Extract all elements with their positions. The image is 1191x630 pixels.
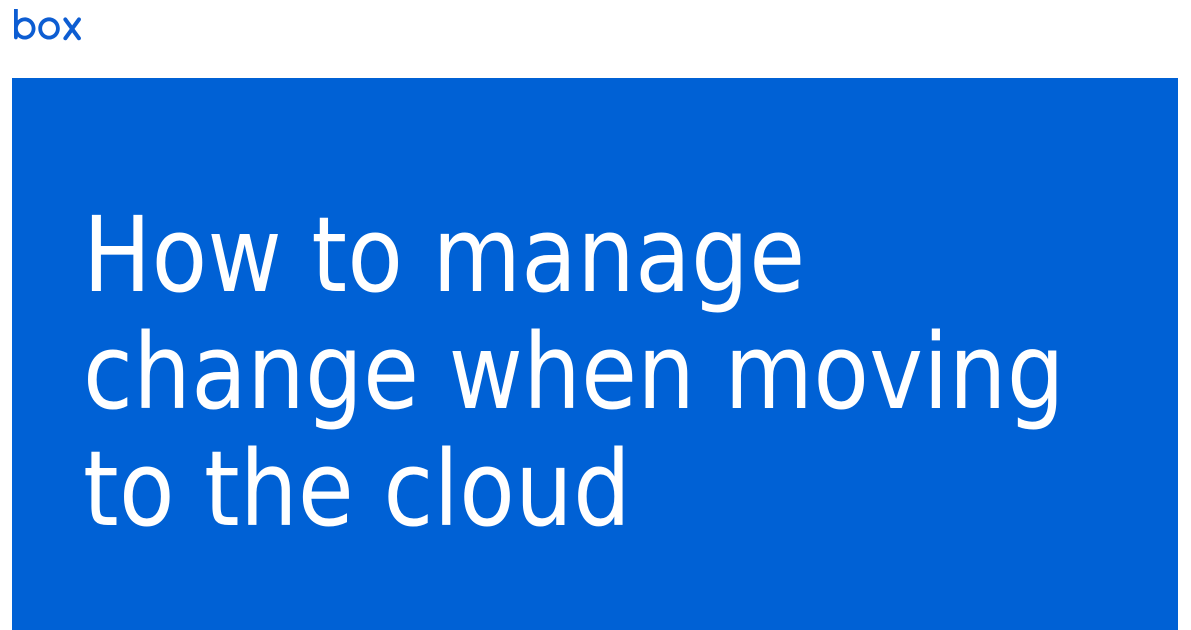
box-logo-icon[interactable]	[12, 8, 92, 44]
hero-banner: How to manage change when moving to the …	[12, 78, 1178, 630]
headline-line-2: change when moving	[83, 314, 1065, 431]
page-header	[0, 0, 1191, 78]
headline-line-1: How to manage	[83, 197, 1065, 314]
hero-content: How to manage change when moving to the …	[83, 78, 1163, 630]
headline-line-3: to the cloud	[83, 431, 1065, 548]
cover-page: How to manage change when moving to the …	[0, 0, 1191, 630]
page-title: How to manage change when moving to the …	[83, 197, 1095, 548]
